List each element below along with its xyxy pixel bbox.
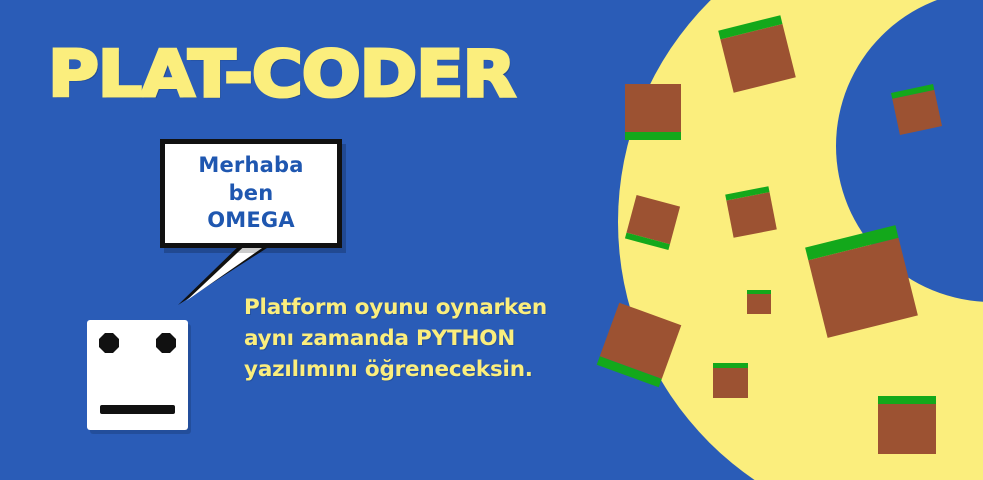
speech-bubble: Merhaba ben OMEGA	[160, 139, 360, 309]
platform-dirt	[625, 84, 681, 132]
promo-banner: PLAT-CODER Merhaba ben OMEGA Platform oy…	[0, 0, 983, 480]
platform-dirt	[878, 404, 936, 454]
character-sprite-omega	[87, 320, 188, 430]
platform-block	[878, 396, 936, 454]
description-line-1: Platform oyunu oynarken	[244, 292, 547, 323]
platform-grass	[625, 132, 681, 140]
sprite-left-eye-icon	[99, 333, 119, 353]
page-title: PLAT-CODER	[48, 42, 515, 106]
sprite-right-eye-icon	[156, 333, 176, 353]
platform-grass	[713, 363, 748, 368]
bubble-line-2: ben	[165, 180, 337, 208]
platform-dirt	[747, 294, 771, 314]
speech-bubble-box: Merhaba ben OMEGA	[160, 139, 342, 248]
bubble-line-3: OMEGA	[165, 207, 337, 235]
platform-grass	[878, 396, 936, 404]
bubble-line-1: Merhaba	[165, 152, 337, 180]
platform-dirt	[713, 368, 748, 398]
description-line-2: aynı zamanda PYTHON	[244, 323, 547, 354]
platform-block	[713, 363, 748, 398]
platform-grass	[747, 290, 771, 294]
platform-block	[725, 186, 777, 238]
platform-block	[625, 84, 681, 140]
sprite-mouth-icon	[100, 405, 175, 414]
platform-block	[747, 290, 771, 314]
description-line-3: yazılımını öğreneceksin.	[244, 354, 547, 385]
description-text: Platform oyunu oynarken aynı zamanda PYT…	[244, 292, 547, 386]
platform-block	[891, 84, 942, 135]
